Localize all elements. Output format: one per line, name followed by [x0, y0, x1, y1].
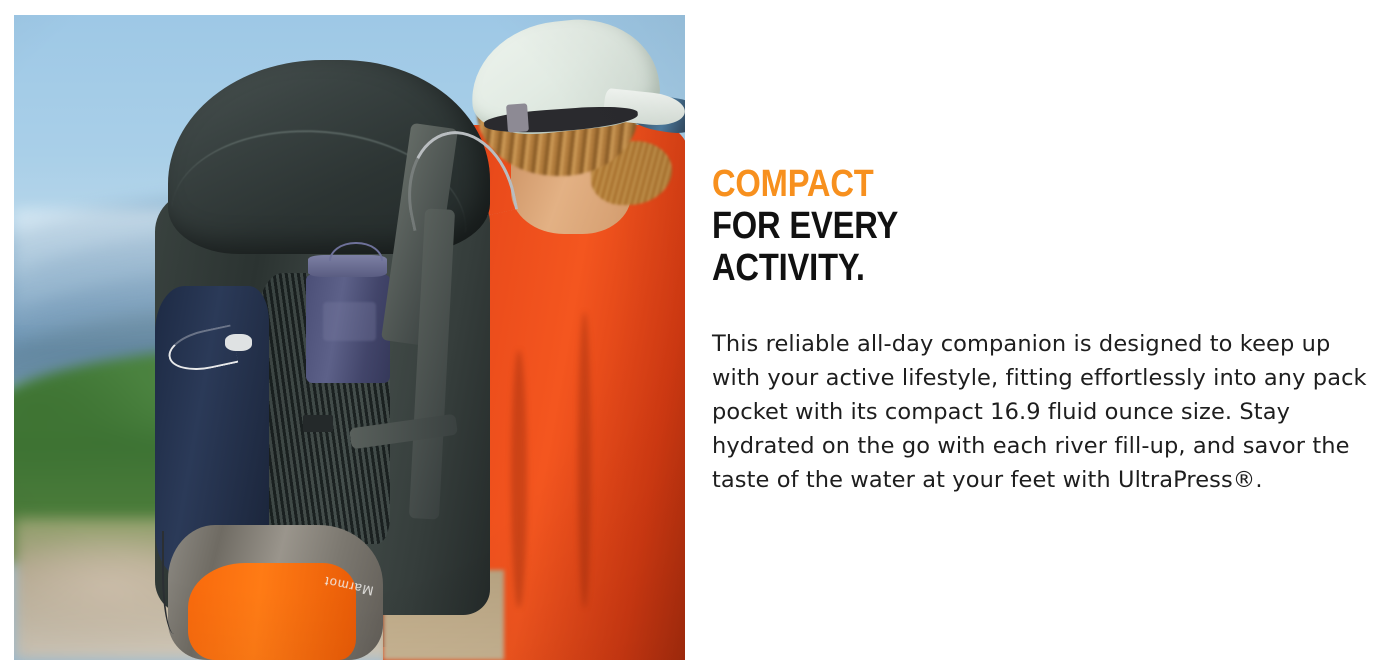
photo-canvas: Marmot — [14, 15, 685, 660]
headline-line-3: ACTIVITY. — [712, 247, 1280, 289]
strap-buckle — [303, 415, 333, 432]
promo-section: Marmot COMPACT FOR EVERY ACTIVITY. This … — [0, 0, 1400, 660]
copy-panel: COMPACT FOR EVERY ACTIVITY. This reliabl… — [712, 15, 1372, 645]
cord-lock — [225, 334, 252, 351]
headline-line-2: FOR EVERY — [712, 205, 1280, 247]
water-bottle-logo — [323, 302, 377, 341]
body-paragraph: This reliable all-day companion is desig… — [712, 327, 1370, 497]
cap-strap-tab — [506, 103, 529, 133]
product-lifestyle-image: Marmot — [14, 15, 685, 660]
headline-accent-line: COMPACT — [712, 163, 1280, 205]
jacket-fold — [578, 312, 591, 609]
jacket-fold — [511, 350, 527, 608]
page-title: COMPACT FOR EVERY ACTIVITY. — [712, 163, 1280, 289]
